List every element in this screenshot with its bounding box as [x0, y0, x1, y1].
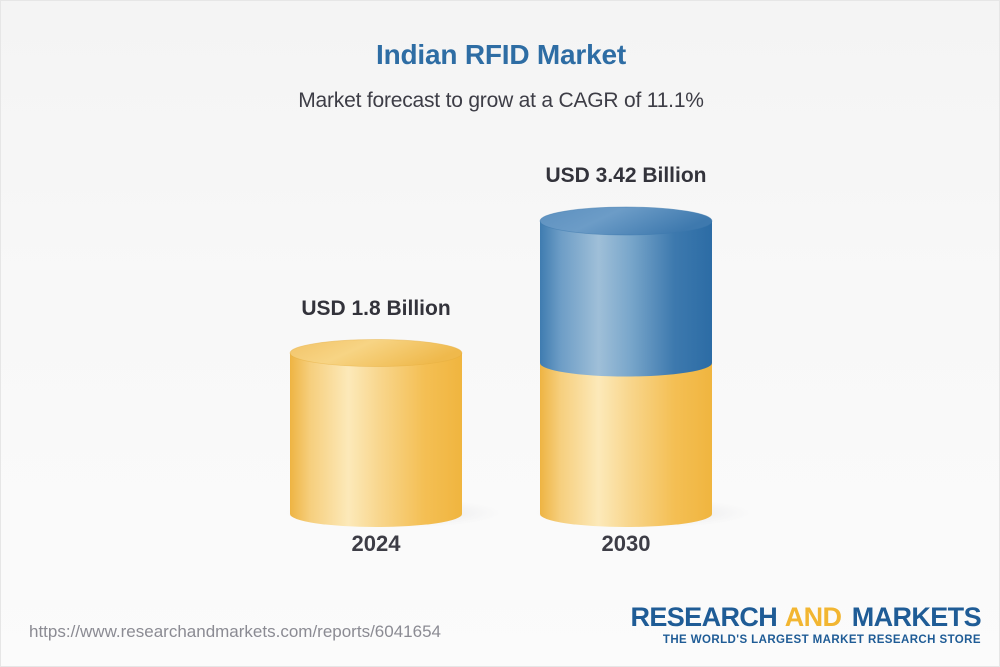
- source-url[interactable]: https://www.researchandmarkets.com/repor…: [29, 622, 441, 642]
- logo-word-research: RESEARCH: [630, 602, 777, 632]
- bar-top-cap-2024: [290, 340, 462, 367]
- value-label-2030: USD 3.42 Billion: [476, 164, 776, 188]
- bar-top-cap-2030: [540, 207, 712, 235]
- bar-segment-growth-2030: [540, 221, 712, 377]
- research-and-markets-logo[interactable]: RESEARCHANDMARKETS THE WORLD'S LARGEST M…: [630, 603, 981, 646]
- logo-word-and: AND: [785, 602, 842, 632]
- value-label-2024: USD 1.8 Billion: [226, 297, 526, 321]
- logo-tagline: THE WORLD'S LARGEST MARKET RESEARCH STOR…: [630, 634, 981, 646]
- category-label-2030: 2030: [476, 531, 776, 557]
- logo-word-markets: MARKETS: [852, 602, 981, 632]
- bar-2030: [535, 207, 751, 528]
- bar-segment-base-2030: [540, 363, 712, 527]
- bar-2024: [285, 340, 501, 529]
- bar-body-2024: [290, 353, 462, 527]
- chart-canvas: Indian RFID Market Market forecast to gr…: [0, 0, 1000, 667]
- logo-wordmark: RESEARCHANDMARKETS: [630, 603, 981, 631]
